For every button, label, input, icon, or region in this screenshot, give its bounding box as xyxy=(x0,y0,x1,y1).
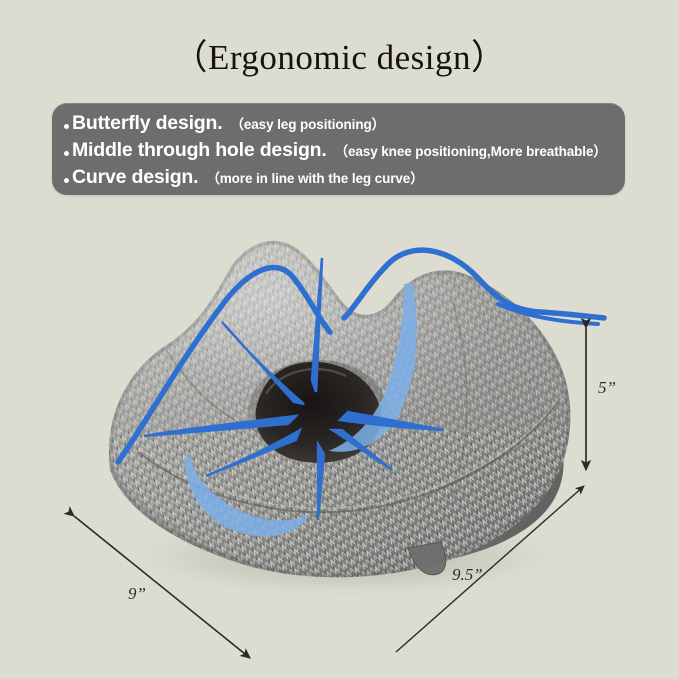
product-artwork xyxy=(0,0,679,679)
dimension-label-width: 9” xyxy=(128,584,146,604)
dimension-label-height: 5” xyxy=(598,378,616,398)
product-infographic: （Ergonomic design） Butterfly design. （ea… xyxy=(0,0,679,679)
dimension-label-depth: 9.5” xyxy=(452,565,483,585)
